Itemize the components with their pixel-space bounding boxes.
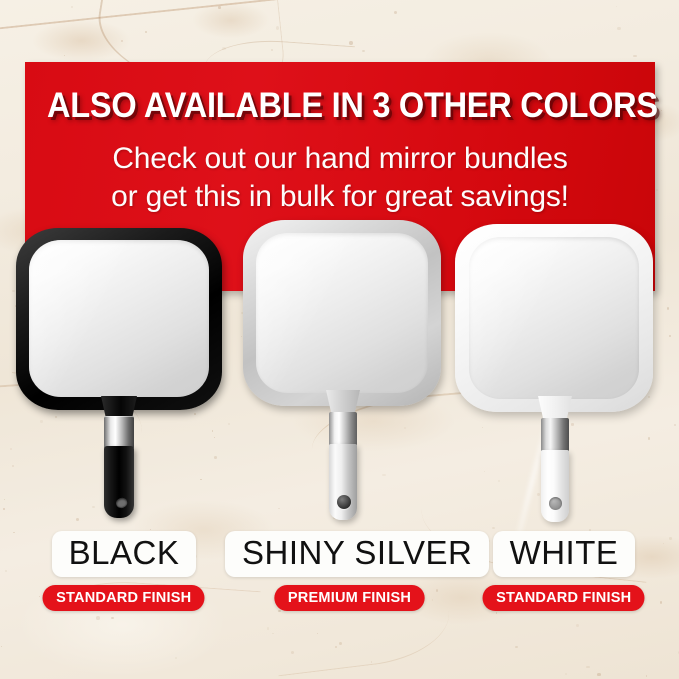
banner-subline-line-2: or get this in bulk for great savings! [25, 178, 655, 216]
banner-headline: ALSO AVAILABLE IN 3 OTHER COLORS [47, 86, 633, 126]
color-label-white: WHITE STANDARD FINISH [440, 531, 679, 611]
color-name-badge: BLACK [52, 531, 197, 577]
finish-badge: STANDARD FINISH [43, 585, 205, 611]
product-mirror-white [455, 224, 653, 522]
chrome-collar [541, 418, 569, 452]
mirror-handle [541, 450, 569, 522]
mirror-glass [256, 233, 428, 393]
product-image-canvas: ALSO AVAILABLE IN 3 OTHER COLORS Check o… [0, 0, 679, 679]
product-mirror-shiny-silver [243, 220, 441, 520]
hanging-hole [549, 497, 562, 510]
finish-badge: PREMIUM FINISH [274, 585, 424, 611]
finish-badge: STANDARD FINISH [483, 585, 645, 611]
product-mirror-black [16, 228, 222, 518]
mirror-glass [29, 240, 209, 397]
banner-subline: Check out our hand mirror bundles or get… [25, 140, 655, 216]
color-label-black: BLACK STANDARD FINISH [0, 531, 248, 611]
mirror-glass [469, 237, 639, 399]
chrome-collar [104, 416, 134, 449]
color-name-badge: WHITE [493, 531, 636, 577]
banner-subline-line-1: Check out our hand mirror bundles [25, 140, 655, 178]
hanging-hole [337, 495, 351, 509]
chrome-collar [329, 412, 357, 446]
color-label-shiny-silver: SHINY SILVER PREMIUM FINISH [225, 531, 473, 611]
